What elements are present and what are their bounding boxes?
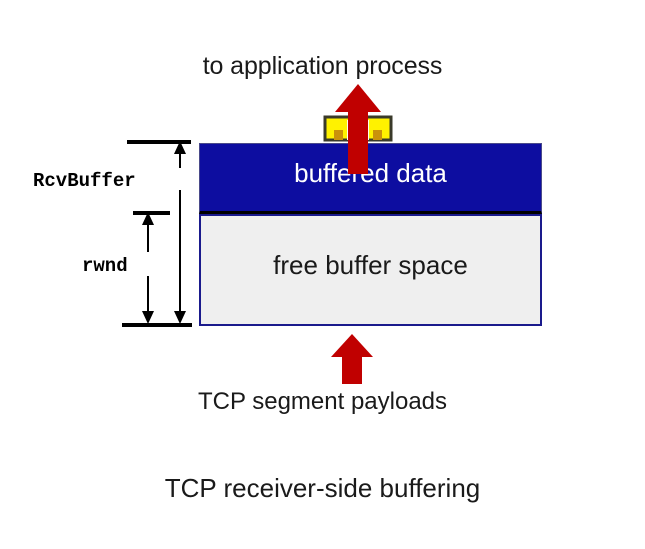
- rcvbuffer-down-arrowhead: [174, 311, 186, 324]
- dimension-bottom-tick: [122, 323, 192, 327]
- tcp-segment-payloads-label: TCP segment payloads: [0, 388, 645, 416]
- to-application-arrowhead: [335, 84, 381, 112]
- rcvbuffer-dimension-line: [174, 141, 186, 324]
- diagram-canvas: to application process buffered data fre…: [0, 0, 645, 549]
- diagram-vector-overlay: [0, 0, 645, 549]
- dimension-ticks: [122, 140, 192, 327]
- rwnd-top-tick: [133, 211, 170, 215]
- rcvbuffer-top-tick: [127, 140, 191, 144]
- diagram-caption: TCP receiver-side buffering: [0, 473, 645, 504]
- tcp-payload-arrowhead: [331, 334, 373, 357]
- rwnd-dimension-line: [142, 212, 154, 324]
- rwnd-down-arrowhead: [142, 311, 154, 324]
- tcp-payload-arrow: [331, 334, 373, 384]
